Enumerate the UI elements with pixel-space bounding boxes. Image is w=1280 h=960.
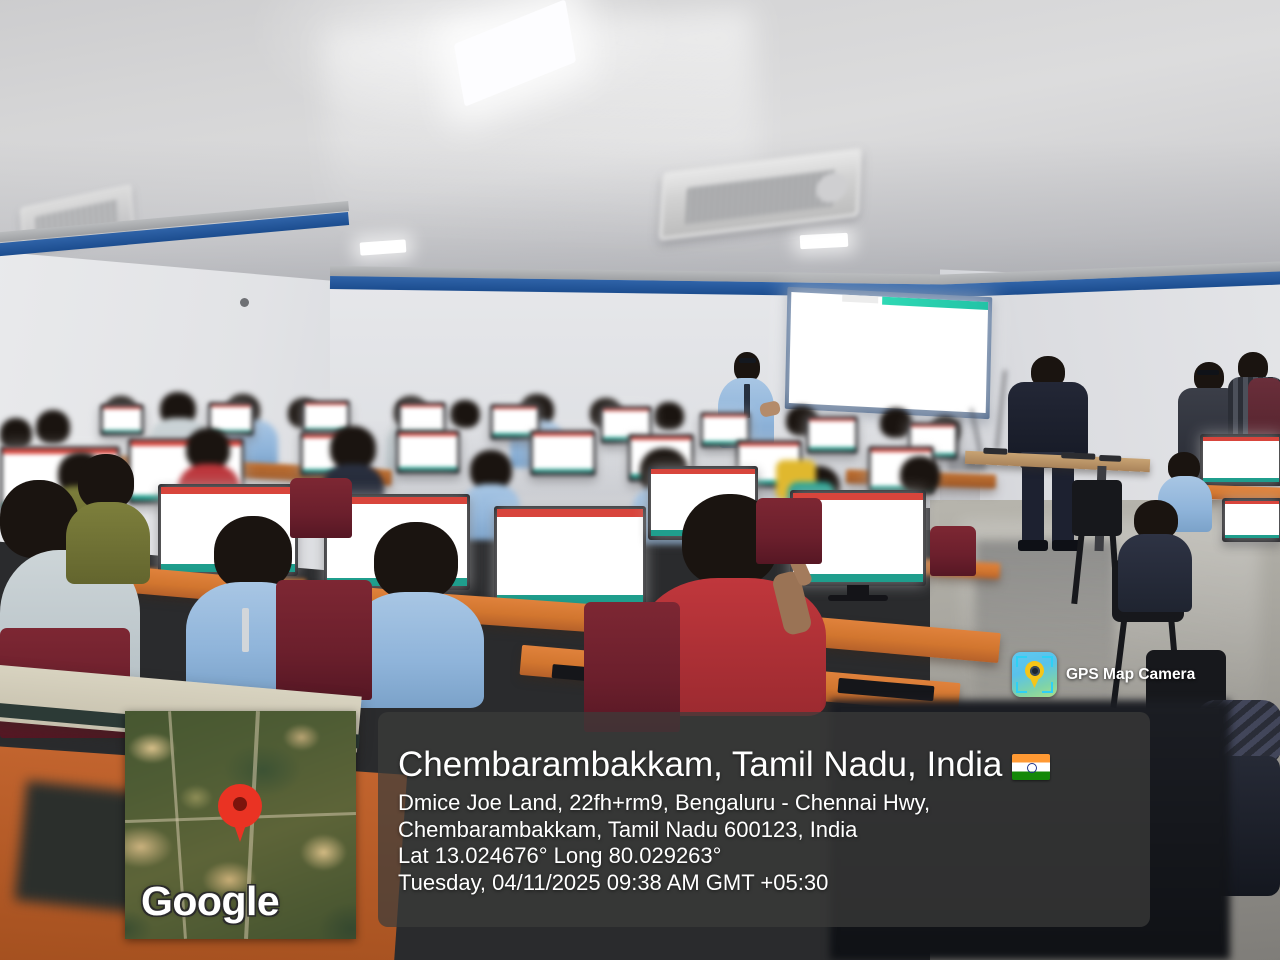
- lanyard: [242, 608, 249, 652]
- chair-mid-3: [930, 526, 976, 576]
- slide-accent-band: [882, 297, 988, 310]
- timestamp-line: Tuesday, 04/11/2025 09:38 AM GMT +05:30: [398, 870, 1138, 897]
- address-line-2: Chembarambakkam, Tamil Nadu 600123, Indi…: [398, 817, 1138, 844]
- gps-map-camera-icon: [1012, 652, 1057, 697]
- chair-right-1: [1072, 480, 1122, 536]
- chair-mid-1: [290, 478, 352, 538]
- monitor-right-back: [1200, 434, 1280, 486]
- location-title: Chembarambakkam, Tamil Nadu, India: [398, 744, 1138, 786]
- monitor-right-mid: [1222, 498, 1280, 542]
- ceiling-downlight-2: [800, 233, 849, 249]
- map-thumbnail[interactable]: Google: [125, 711, 356, 939]
- coordinates-line: Lat 13.024676° Long 80.029263°: [398, 843, 1138, 870]
- location-title-text: Chembarambakkam, Tamil Nadu, India: [398, 745, 1002, 784]
- cctv-camera: [240, 298, 249, 307]
- google-logo: Google: [141, 878, 279, 925]
- student-front-5: [66, 454, 150, 584]
- map-pin-icon: [218, 784, 262, 828]
- photo-screenshot: Google Chembarambakkam, Tamil Nadu, Indi…: [0, 0, 1280, 960]
- presenter-glasses: [739, 358, 756, 363]
- address-line-1: Dmice Joe Land, 22fh+rm9, Bengaluru - Ch…: [398, 790, 1138, 817]
- chair-mid-2: [756, 498, 822, 564]
- person-right-seated-2: [1118, 500, 1192, 610]
- location-details: Dmice Joe Land, 22fh+rm9, Bengaluru - Ch…: [398, 790, 1138, 896]
- monitor-front-3: [494, 506, 646, 608]
- watermark-label: GPS Map Camera: [1066, 666, 1195, 684]
- gps-map-camera-watermark: GPS Map Camera: [1012, 652, 1195, 697]
- chair-front-2: [276, 580, 372, 700]
- india-flag-icon: [1012, 754, 1050, 780]
